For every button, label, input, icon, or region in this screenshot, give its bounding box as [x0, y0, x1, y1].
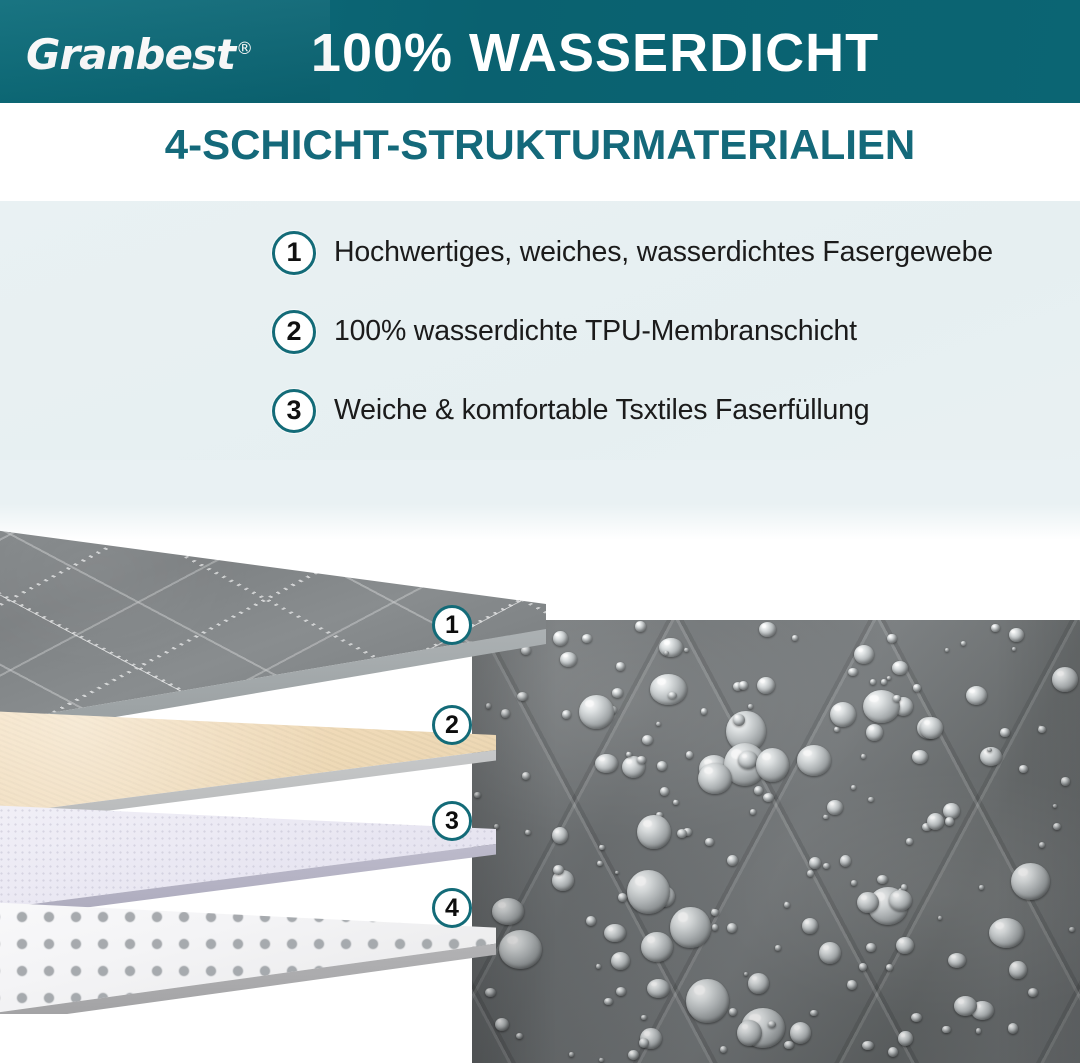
diagram-callout-4: 4 — [432, 888, 472, 928]
photo-shading — [472, 620, 1080, 1063]
layer-diagram: 1 2 3 4 — [0, 460, 1080, 1063]
diagram-callout-2: 2 — [432, 705, 472, 745]
layer4-latex-dots — [0, 854, 496, 1014]
feature-badge-1: 1 — [272, 231, 316, 275]
feature-label-3: Weiche & komfortable Tsxtiles Faserfüllu… — [334, 394, 869, 427]
feature-badge-3: 3 — [272, 389, 316, 433]
list-item: 3 Weiche & komfortable Tsxtiles Faserfül… — [272, 371, 1072, 450]
layer-sheet-4 — [0, 854, 496, 1014]
subtitle-text: 4-SCHICHT-STRUKTURMATERIALIEN — [0, 121, 1080, 169]
list-item: 1 Hochwertiges, weiches, wasserdichtes F… — [272, 213, 1072, 292]
subtitle-band: 4-SCHICHT-STRUKTURMATERIALIEN — [0, 103, 1080, 201]
feature-badge-2: 2 — [272, 310, 316, 354]
feature-label-1: Hochwertiges, weiches, wasserdichtes Fas… — [334, 236, 993, 269]
feature-label-2: 100% wasserdichte TPU-Membranschicht — [334, 315, 857, 348]
infographic-page: Granbest® 100% WASSERDICHT 4-SCHICHT-STR… — [0, 0, 1080, 1063]
diagram-callout-3: 3 — [432, 801, 472, 841]
water-beading-photo — [472, 620, 1080, 1063]
header-title: 100% WASSERDICHT — [0, 22, 1080, 84]
header-banner: Granbest® 100% WASSERDICHT — [0, 0, 1080, 103]
list-item: 2 100% wasserdichte TPU-Membranschicht — [272, 292, 1072, 371]
diagram-callout-1: 1 — [432, 605, 472, 645]
